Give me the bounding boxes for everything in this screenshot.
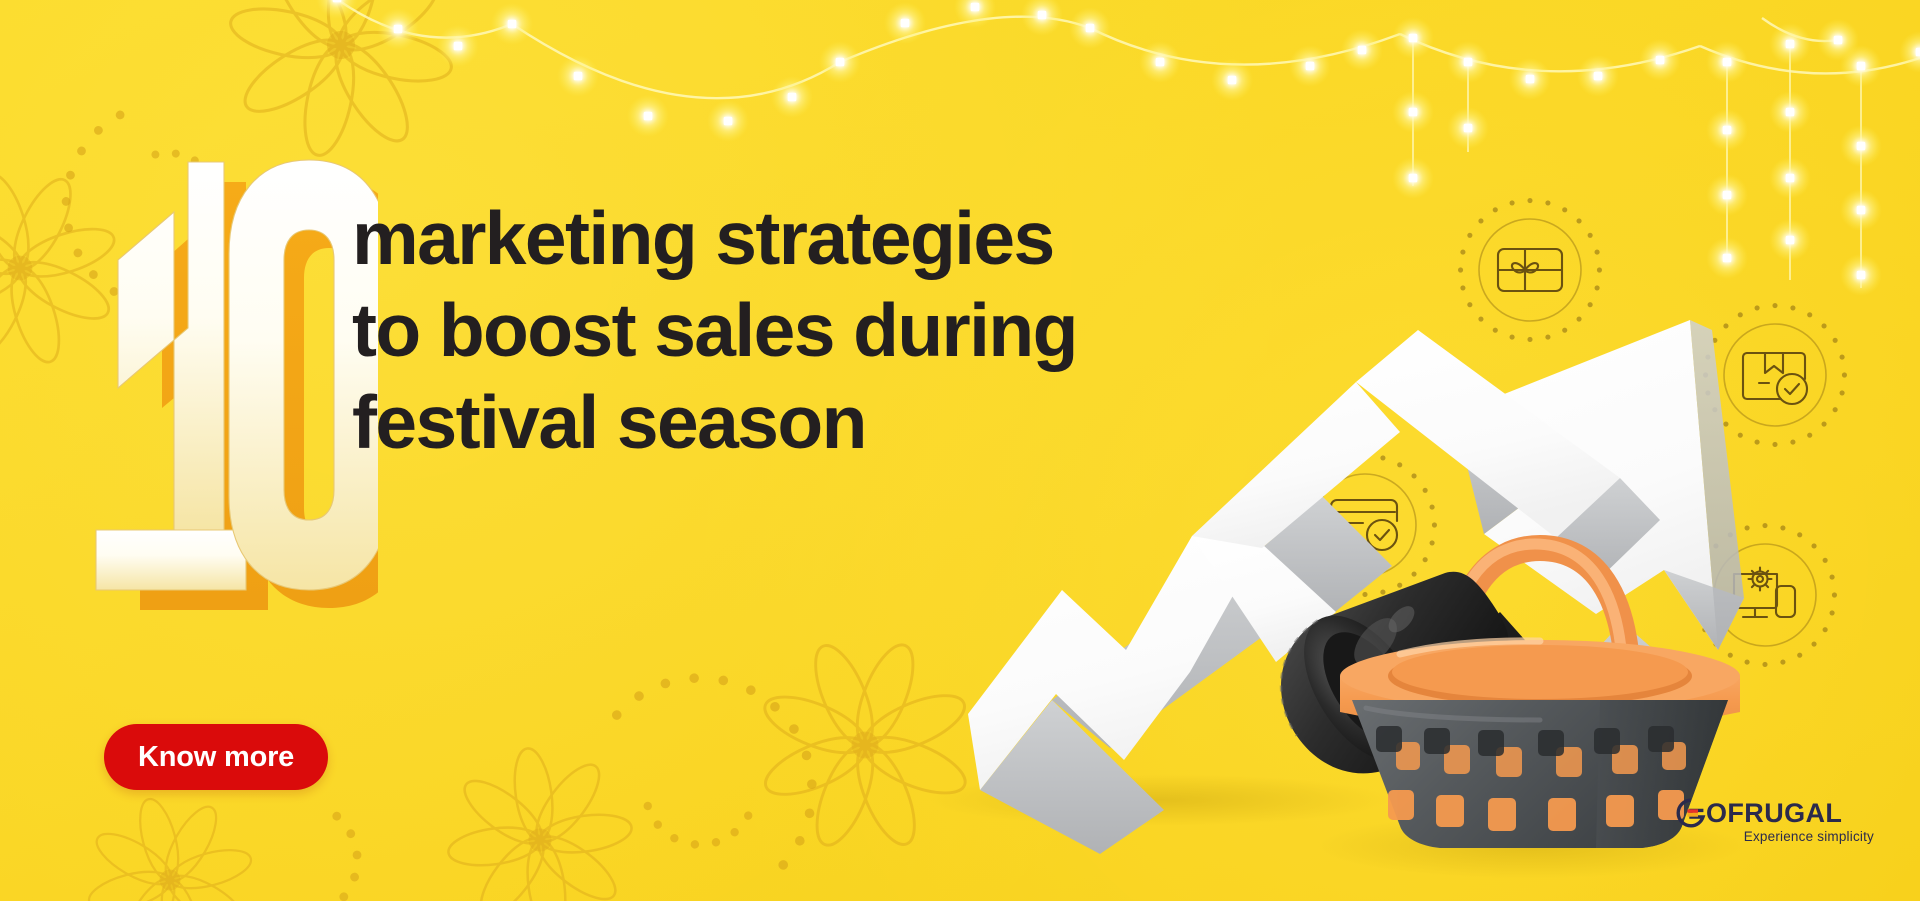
logo-tagline: Experience simplicity	[1676, 829, 1876, 844]
logo-text: OFRUGAL	[1706, 798, 1842, 828]
megaphone-icon	[1250, 534, 1548, 804]
logo-wordmark: OFRUGAL	[1676, 798, 1876, 828]
arrow-shaft	[1356, 330, 1660, 582]
numeral-10	[78, 150, 378, 630]
package-check-icon	[1703, 303, 1847, 447]
promo-banner: marketing strategies to boost sales duri…	[0, 0, 1920, 901]
credit-card-check-icon	[1293, 453, 1437, 597]
basket-handle	[1447, 544, 1628, 690]
numeral-10-graphic	[78, 150, 378, 630]
headline-line-3: festival season	[352, 376, 1172, 468]
know-more-button[interactable]: Know more	[104, 724, 328, 790]
page-title: marketing strategies to boost sales duri…	[352, 192, 1172, 468]
arrow-side-faces	[980, 496, 1700, 854]
brand-logo[interactable]: OFRUGAL Experience simplicity	[1676, 798, 1876, 844]
arrow-head	[1454, 320, 1744, 650]
logo-g-glyph	[1676, 798, 1706, 828]
headline-line-1: marketing strategies	[352, 192, 1172, 284]
basket-rim	[1340, 640, 1740, 752]
logo-g-mark-icon	[1676, 798, 1706, 828]
basket-body	[1352, 700, 1728, 848]
arrow-ground-shadow	[930, 774, 1390, 826]
devices-gear-icon	[1693, 523, 1837, 667]
headline-line-2: to boost sales during	[352, 284, 1172, 376]
gift-card-icon	[1458, 198, 1602, 342]
